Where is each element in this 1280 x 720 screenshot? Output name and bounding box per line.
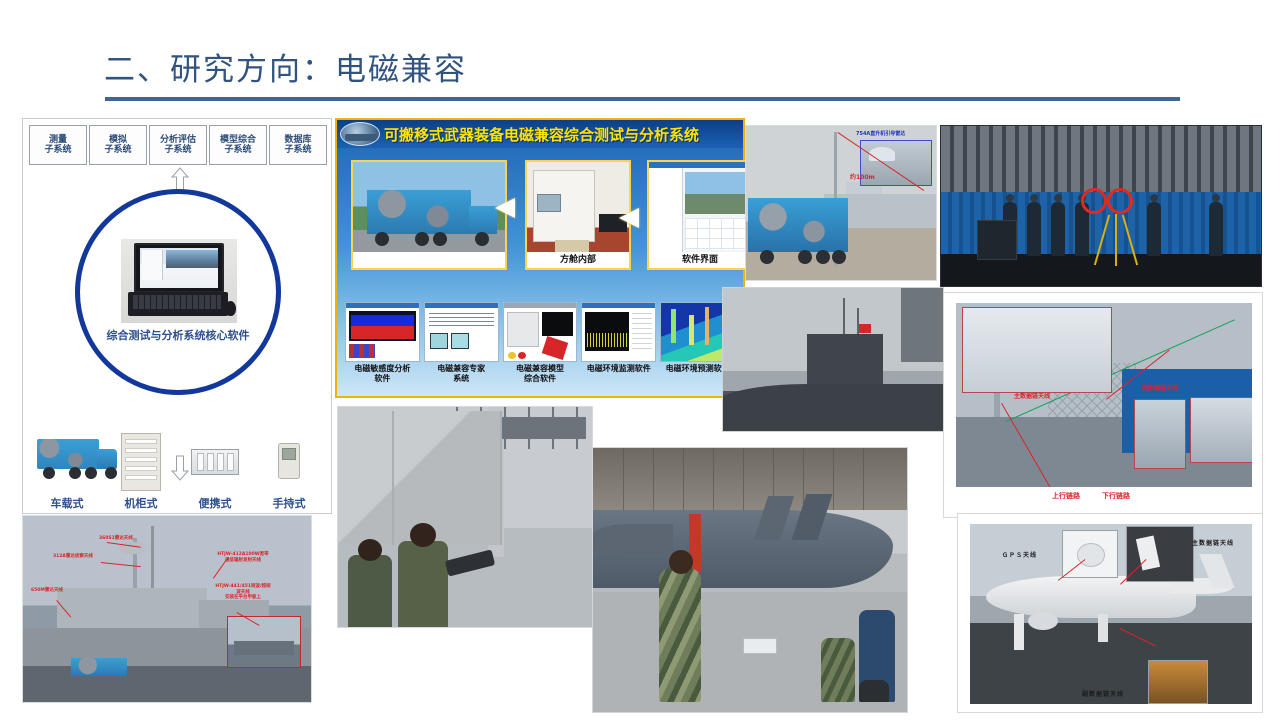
banner-title: 可搬移式武器装备电磁兼容综合测试与分析系统 [380,124,743,145]
bowtie-antenna [1081,188,1137,216]
subsystem-label-line2: 子系统 [284,145,311,155]
subsystem-box-simulation: 模拟 子系统 [89,125,147,165]
operator-person-2 [398,541,448,627]
ship-superstructure [57,588,207,632]
camouflage-test-vehicle [748,198,848,252]
top-photo-row: 方舱内部 软件界面 [347,154,733,274]
person-icon [1209,202,1223,256]
photo-ship-antenna-survey: 360S1雷达天线 312A雷达侦察天线 650M雷达天线 HTJW-412A1… [22,515,312,703]
uav-photo-inner: ＧＰＳ天线 主数据链天线 副数据链天线 [970,524,1252,704]
subsystem-label-line2: 子系统 [164,145,191,155]
photo-shelter-interior: 方舱内部 [525,160,631,270]
subsystem-label-line2: 子系统 [44,145,71,155]
national-flag [859,324,871,333]
shelter-truck-cab [469,206,497,234]
software-label-expert: 电磁兼容专家 系统 [424,364,499,394]
photo-caption-software: 软件界面 [649,252,751,268]
software-label-model: 电磁兼容模型 综合软件 [503,364,578,394]
interior-monitor [537,194,561,212]
callout-arrow-2 [619,208,639,228]
software-3d-view [685,172,749,214]
person-icon [1027,202,1041,256]
photo-shipboard-measurement [337,406,593,628]
subsystem-box-measurement: 测量 子系统 [29,125,87,165]
cabinet-photo [105,431,177,493]
subsystem-box-analysis: 分析评估 子系统 [149,125,207,165]
platform-cabinet: 机柜式 [105,431,177,511]
uav-landing-gear-rear [1098,614,1108,642]
subsystem-label-line1: 模型综合 [220,135,256,145]
software-grid-pane [685,218,749,250]
annotation-main-datalink: 主数据链天线 [1014,391,1050,400]
platform-vehicle: 车载式 [31,431,103,511]
handheld-photo [253,431,325,493]
uav-fuselage [986,576,1196,618]
vehicle-wheels [760,250,846,264]
antenna-tripod [1101,214,1131,266]
ship-mast-secondary [151,526,154,596]
inset-sub-datalink-antenna [1134,399,1186,469]
annotation-uav-main-datalink: 主数据链天线 [1192,538,1234,547]
subsystem-row: 测量 子系统 模拟 子系统 分析评估 子系统 模型综合 子系统 数据库 子系统 [29,125,327,165]
submarine-sail [807,334,883,390]
photo-inset-ship [227,616,301,668]
test-vehicle-on-quay [71,658,127,676]
platform-label-portable: 便携式 [199,495,232,511]
annotation-sub-datalink: 副数据链天线 [1142,383,1178,392]
rf-absorber-foam [941,126,1261,192]
platform-portable: 便携式 [179,431,251,511]
slide-root: 二、研究方向：电磁兼容 测量 子系统 模拟 子系统 分析评估 子系统 模型综合 … [0,0,1280,720]
person-icon [1051,202,1065,256]
crouching-test-team [805,598,901,702]
annotation-distance-100m: 约100m [850,172,875,181]
photo-caption-interior: 方舱内部 [527,252,629,268]
subsystem-label-line2: 子系统 [224,145,251,155]
photo-software-ui: 软件界面 [647,160,753,270]
standing-soldier [659,568,701,702]
photo-caption-vehicle [353,252,505,268]
laptop-keyboard [133,295,221,309]
portable-chassis [191,449,239,475]
inset-main-datalink-antenna [1126,526,1194,582]
banner-header: 可搬移式武器装备电磁兼容综合测试与分析系统 [337,120,743,148]
inset-antenna-closeup [1190,397,1252,463]
system-overview-panel: 可搬移式武器装备电磁兼容综合测试与分析系统 方舱内部 [335,118,745,398]
pier-structure [901,288,943,362]
software-screenshot-sensitivity [345,302,420,362]
software-screenshot-strip [345,302,735,362]
uav-sensor-dome [1028,612,1058,630]
annotation-uav-sub-datalink: 副数据链天线 [1082,689,1124,698]
submarine-mast-a [843,298,845,338]
mouse-icon [225,301,236,316]
aircraft-nose [592,524,673,558]
laptop-lid [134,243,224,293]
annotation-htjw412a: HTJW-412A100W宽带 通信辐射发射天线 [205,552,281,563]
annotation-312a: 312A雷达侦察天线 [53,554,93,560]
annotation-htjw441: HTJW-441/451短波/超短波天线 安装在平台甲板上 [215,584,271,601]
software-screenshot-model [503,302,578,362]
uav-landing-gear-front [1014,614,1024,650]
annotation-uplink: 上行链路 [1052,491,1080,501]
subsystem-label-line1: 模拟 [109,135,127,145]
software-screenshot-expert [424,302,499,362]
handheld-device [278,443,300,479]
software-caption-row: 电磁敏感度分析 软件 电磁兼容专家 系统 电磁兼容模型 综合软件 电磁环境监测软… [345,364,735,394]
photo-anechoic-chamber [940,125,1262,287]
software-screenshot-monitor [581,302,656,362]
platform-handheld: 手持式 [253,431,325,511]
cabinet-rack [121,433,161,491]
annotation-gps-antenna: ＧＰＳ天线 [1002,550,1037,559]
annotation-650m: 650M雷达天线 [31,588,63,594]
photo-uav-antenna-layout: ＧＰＳ天线 主数据链天线 副数据链天线 [957,513,1263,713]
subsystem-label-line1: 测量 [49,135,67,145]
callout-arrow-1 [495,198,515,218]
architecture-diagram: 测量 子系统 模拟 子系统 分析评估 子系统 模型综合 子系统 数据库 子系统 [22,118,332,514]
page-title: 二、研究方向：电磁兼容 [104,44,467,89]
annotation-leader-sub [1120,628,1156,646]
rugged-laptop-photo [121,239,237,323]
software-label-sensitivity: 电磁敏感度分析 软件 [345,364,420,394]
software-label-monitor: 电磁环境监测软件 [581,364,656,394]
annotation-754a-radar: 754A直升机引导雷达 [856,130,905,137]
person-icon [1147,202,1161,256]
truck-body [37,439,99,469]
platform-label-handheld: 手持式 [273,495,306,511]
portable-photo [179,431,251,493]
truck-photo [31,431,103,493]
photo-aircraft-hangar-test [592,447,908,713]
inset-main-datalink-antenna [962,307,1112,393]
instrument-cart [977,220,1017,260]
laptop-screen [140,248,218,288]
core-software-label: 综合测试与分析系统核心软件 [75,327,281,343]
inset-sub-datalink-antenna [1148,660,1208,704]
subsystem-label-line1: 数据库 [284,135,311,145]
submarine-hull [722,384,944,432]
datalink-photo-inner: 主数据链天线 副数据链天线 [956,303,1252,487]
test-equipment-case [743,638,777,654]
shelter-truck-body [367,190,471,234]
subsystem-label-line2: 子系统 [104,145,131,155]
annotation-downlink: 下行链路 [1102,491,1130,501]
platform-row: 车载式 机柜式 便携式 [31,419,325,511]
operator-person-1 [348,555,392,627]
ship-badge-icon [340,122,380,146]
photo-ship-datalink-antennas: 主数据链天线 副数据链天线 上行链路 下行链路 [943,292,1263,518]
hangar-roof-truss [593,448,907,510]
photo-shelter-vehicle [351,160,507,270]
shelter-truck-wheels [375,232,495,246]
subsystem-box-database: 数据库 子系统 [269,125,327,165]
subsystem-label-line1: 分析评估 [160,135,196,145]
title-divider [105,97,1180,101]
dock-quay [23,666,311,702]
subsystem-box-model: 模型综合 子系统 [209,125,267,165]
annotation-360s1: 360S1雷达天线 [99,536,133,542]
photo-submarine-test [722,287,944,432]
platform-label-vehicle: 车载式 [51,495,84,511]
platform-label-cabinet: 机柜式 [125,495,158,511]
handheld-probe [445,549,495,576]
photo-radar-site-test: 754A直升机引导雷达 约100m [745,125,937,281]
